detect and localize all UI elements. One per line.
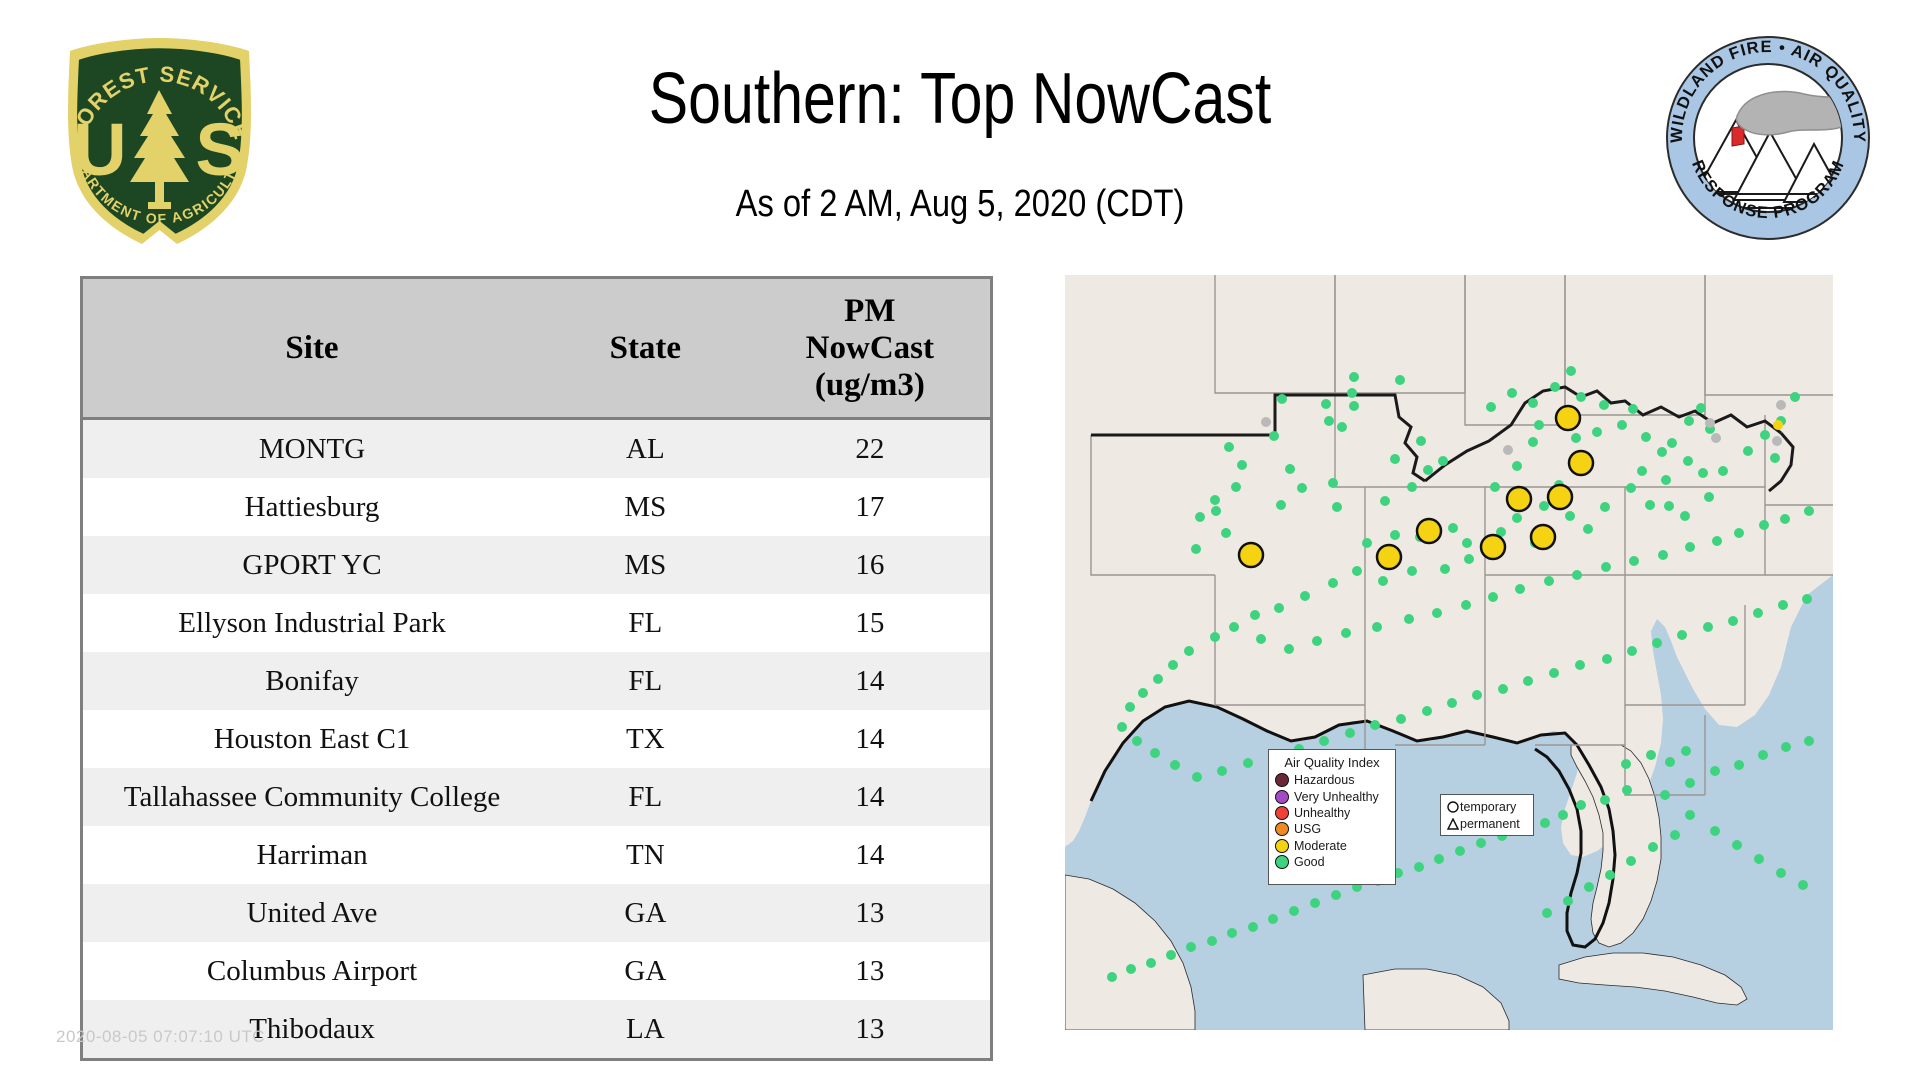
- monitor-point-good: [1370, 720, 1380, 730]
- monitor-point-good: [1297, 483, 1307, 493]
- legend-permanent-row: permanent: [1445, 815, 1529, 832]
- monitor-point-good: [1464, 554, 1474, 564]
- monitor-point-good: [1685, 542, 1695, 552]
- monitor-point-good: [1698, 468, 1708, 478]
- monitor-point-good: [1362, 538, 1372, 548]
- monitor-point-nodata: [1705, 418, 1715, 428]
- monitor-point-good: [1684, 416, 1694, 426]
- monitor-point-good: [1455, 846, 1465, 856]
- pm-header-line-1: PM: [754, 293, 986, 330]
- cell-site: Bonifay: [83, 652, 541, 710]
- monitor-point-good: [1268, 914, 1278, 924]
- monitor-point-good: [1566, 366, 1576, 376]
- monitor-point-good: [1390, 530, 1400, 540]
- monitor-point-good: [1277, 394, 1287, 404]
- cell-pm: 17: [750, 478, 990, 536]
- monitor-point-good: [1274, 603, 1284, 613]
- monitor-point-good: [1250, 610, 1260, 620]
- monitor-point-good: [1565, 511, 1575, 521]
- temporary-circle-icon: [1445, 801, 1460, 813]
- monitor-point-good: [1284, 644, 1294, 654]
- monitor-point-good: [1168, 660, 1178, 670]
- monitor-point-moderate: [1556, 406, 1580, 430]
- legend-swatch-icon: [1275, 806, 1289, 820]
- monitor-point-good: [1710, 826, 1720, 836]
- monitor-point-good: [1331, 890, 1341, 900]
- usda-forest-service-logo: FOREST SERVICE DEPARTMENT OF AGRICULTURE…: [52, 32, 267, 254]
- monitor-point-good: [1780, 514, 1790, 524]
- monitor-point-good: [1576, 800, 1586, 810]
- monitor-point-good: [1683, 456, 1693, 466]
- table-row[interactable]: Tallahassee Community CollegeFL14: [83, 768, 990, 826]
- nowcast-table-container: Site State PM NowCast (ug/m3) MONTGAL22H…: [80, 276, 993, 1061]
- table-row[interactable]: MONTGAL22: [83, 419, 990, 479]
- column-header-state[interactable]: State: [541, 279, 750, 419]
- cell-state: GA: [541, 884, 750, 942]
- monitor-point-good: [1583, 524, 1593, 534]
- monitor-point-good: [1685, 810, 1695, 820]
- legend-item-label: Very Unhealthy: [1294, 790, 1379, 804]
- monitor-point-nodata: [1776, 400, 1786, 410]
- monitor-point-good: [1211, 506, 1221, 516]
- monitor-point-good: [1332, 502, 1342, 512]
- monitor-point-good: [1600, 795, 1610, 805]
- monitor-point-good: [1170, 760, 1180, 770]
- monitor-point-good: [1667, 438, 1677, 448]
- monitor-point-good: [1753, 608, 1763, 618]
- cell-pm: 16: [750, 536, 990, 594]
- table-header-row: Site State PM NowCast (ug/m3): [83, 279, 990, 419]
- monitor-point-good: [1798, 880, 1808, 890]
- monitor-point-good: [1804, 506, 1814, 516]
- monitor-point-good: [1227, 928, 1237, 938]
- column-header-site[interactable]: Site: [83, 279, 541, 419]
- pm-header-line-3: (ug/m3): [754, 367, 986, 404]
- monitor-point-good: [1544, 576, 1554, 586]
- monitor-point-good: [1378, 576, 1388, 586]
- column-header-pm-nowcast[interactable]: PM NowCast (ug/m3): [750, 279, 990, 419]
- monitor-point-good: [1229, 622, 1239, 632]
- cell-site: Columbus Airport: [83, 942, 541, 1000]
- monitor-point-good: [1396, 714, 1406, 724]
- monitor-point-good: [1404, 614, 1414, 624]
- cell-pm: 13: [750, 1000, 990, 1058]
- monitor-point-good: [1486, 402, 1496, 412]
- cell-site: United Ave: [83, 884, 541, 942]
- monitor-point-good: [1658, 550, 1668, 560]
- monitor-point-good: [1571, 433, 1581, 443]
- monitor-point-good: [1125, 702, 1135, 712]
- monitor-point-good: [1507, 388, 1517, 398]
- legend-item-label: Unhealthy: [1294, 806, 1350, 820]
- cell-state: AL: [541, 419, 750, 479]
- monitor-point-good: [1542, 908, 1552, 918]
- monitor-point-good: [1423, 465, 1433, 475]
- monitor-point-good: [1664, 501, 1674, 511]
- letter-s: S: [195, 108, 244, 191]
- monitor-point-good: [1416, 436, 1426, 446]
- monitor-point-moderate: [1239, 543, 1263, 567]
- monitor-point-good: [1641, 432, 1651, 442]
- monitor-point-good: [1575, 660, 1585, 670]
- monitor-point-good: [1576, 392, 1586, 402]
- monitor-point-good: [1146, 958, 1156, 968]
- monitor-point-good: [1276, 500, 1286, 510]
- monitor-point-good: [1661, 475, 1671, 485]
- monitor-point-moderate: [1569, 451, 1593, 475]
- monitor-point-good: [1680, 511, 1690, 521]
- cell-state: FL: [541, 594, 750, 652]
- monitor-point-good: [1231, 482, 1241, 492]
- monitor-point-good: [1462, 538, 1472, 548]
- monitor-point-good: [1310, 898, 1320, 908]
- monitor-point-good: [1166, 950, 1176, 960]
- monitor-point-good: [1414, 862, 1424, 872]
- monitor-point-good: [1760, 430, 1770, 440]
- monitor-point-good: [1107, 972, 1117, 982]
- monitor-point-good: [1601, 562, 1611, 572]
- cell-state: GA: [541, 942, 750, 1000]
- wildland-fire-air-quality-logo: WILDLAND FIRE • AIR QUALITY RESPONSE PRO…: [1662, 32, 1874, 244]
- monitor-point-good: [1285, 464, 1295, 474]
- monitor-point-good: [1490, 482, 1500, 492]
- monitor-point-good: [1734, 760, 1744, 770]
- monitor-point-good: [1728, 616, 1738, 626]
- table-body: MONTGAL22HattiesburgMS17GPORT YCMS16Elly…: [83, 419, 990, 1059]
- monitor-point-nodata: [1261, 417, 1271, 427]
- monitor-point-good: [1321, 399, 1331, 409]
- monitor-point-nodata: [1503, 445, 1513, 455]
- legend-title: Air Quality Index: [1275, 755, 1389, 770]
- monitor-point-good: [1677, 630, 1687, 640]
- monitor-point-good: [1237, 460, 1247, 470]
- monitor-point-good: [1563, 896, 1573, 906]
- monitor-point-good: [1132, 736, 1142, 746]
- monitor-point-good: [1626, 856, 1636, 866]
- monitor-point-good: [1289, 906, 1299, 916]
- monitor-type-legend: temporary permanent: [1440, 794, 1534, 836]
- monitor-point-good: [1217, 766, 1227, 776]
- legend-item-label: USG: [1294, 822, 1321, 836]
- monitor-point-good: [1754, 854, 1764, 864]
- monitor-point-good: [1440, 564, 1450, 574]
- monitor-point-good: [1269, 431, 1279, 441]
- monitor-point-good: [1599, 400, 1609, 410]
- monitor-point-good: [1718, 466, 1728, 476]
- cell-site: Ellyson Industrial Park: [83, 594, 541, 652]
- monitor-point-good: [1153, 674, 1163, 684]
- monitor-point-good: [1528, 437, 1538, 447]
- monitor-point-good: [1758, 750, 1768, 760]
- monitor-point-good: [1512, 461, 1522, 471]
- legend-item-moderate: Moderate: [1275, 838, 1389, 854]
- monitor-point-good: [1347, 388, 1357, 398]
- monitor-point-good: [1488, 592, 1498, 602]
- cell-site: Hattiesburg: [83, 478, 541, 536]
- monitor-point-good: [1191, 544, 1201, 554]
- permanent-triangle-icon: [1445, 818, 1460, 830]
- monitor-point-good: [1447, 698, 1457, 708]
- monitor-point-good: [1790, 392, 1800, 402]
- monitor-point-good: [1626, 483, 1636, 493]
- monitor-point-moderate: [1531, 525, 1555, 549]
- legend-swatch-icon: [1275, 773, 1289, 787]
- monitor-point-good: [1523, 676, 1533, 686]
- monitor-point-good: [1461, 600, 1471, 610]
- monitor-point-good: [1210, 495, 1220, 505]
- monitor-point-good: [1372, 622, 1382, 632]
- monitor-point-good: [1407, 566, 1417, 576]
- monitor-point-good: [1622, 785, 1632, 795]
- monitor-point-good: [1432, 608, 1442, 618]
- monitor-point-good: [1243, 758, 1253, 768]
- cell-pm: 14: [750, 710, 990, 768]
- legend-item-label: Hazardous: [1294, 773, 1354, 787]
- monitor-point-good: [1781, 742, 1791, 752]
- monitor-point-good: [1627, 646, 1637, 656]
- monitor-point-good: [1670, 830, 1680, 840]
- monitor-point-good: [1407, 482, 1417, 492]
- monitor-point-good: [1646, 750, 1656, 760]
- cell-pm: 14: [750, 826, 990, 884]
- monitor-point-good: [1572, 570, 1582, 580]
- cell-state: TX: [541, 710, 750, 768]
- monitor-point-good: [1549, 668, 1559, 678]
- legend-permanent-label: permanent: [1460, 817, 1520, 831]
- monitor-point-good: [1476, 838, 1486, 848]
- table-row[interactable]: Columbus AirportGA13: [83, 942, 990, 1000]
- monitor-point-good: [1652, 638, 1662, 648]
- monitor-point-good: [1192, 772, 1202, 782]
- monitor-point-good: [1712, 536, 1722, 546]
- monitor-point-good: [1592, 427, 1602, 437]
- monitor-point-good: [1345, 728, 1355, 738]
- monitor-point-good: [1734, 528, 1744, 538]
- legend-swatch-icon: [1275, 855, 1289, 869]
- air-quality-index-legend: Air Quality Index HazardousVery Unhealth…: [1268, 749, 1396, 885]
- monitor-point-good: [1550, 382, 1560, 392]
- monitor-point-good: [1802, 594, 1812, 604]
- monitor-point-good: [1312, 636, 1322, 646]
- monitor-point-good: [1207, 936, 1217, 946]
- monitor-point-good: [1341, 628, 1351, 638]
- monitor-point-good: [1703, 622, 1713, 632]
- monitor-point-nodata: [1711, 433, 1721, 443]
- monitor-point-good: [1602, 654, 1612, 664]
- cell-pm: 14: [750, 768, 990, 826]
- cell-site: MONTG: [83, 419, 541, 479]
- monitor-point-good: [1710, 766, 1720, 776]
- table-row[interactable]: BonifayFL14: [83, 652, 990, 710]
- monitor-point-good: [1645, 500, 1655, 510]
- table-row[interactable]: GPORT YCMS16: [83, 536, 990, 594]
- monitor-point-good: [1434, 854, 1444, 864]
- legend-item-usg: USG: [1275, 821, 1389, 837]
- monitor-point-good: [1138, 688, 1148, 698]
- cell-state: FL: [541, 652, 750, 710]
- monitor-point-good: [1512, 513, 1522, 523]
- legend-temporary-row: temporary: [1445, 798, 1529, 815]
- monitor-point-moderate: [1548, 485, 1572, 509]
- cell-pm: 15: [750, 594, 990, 652]
- monitor-point-good: [1248, 922, 1258, 932]
- cell-site: Harriman: [83, 826, 541, 884]
- legend-swatch-icon: [1275, 790, 1289, 804]
- monitor-point-good: [1657, 447, 1667, 457]
- page-title: Southern: Top NowCast: [419, 60, 1501, 138]
- monitor-point-good: [1696, 403, 1706, 413]
- monitor-point-good: [1681, 746, 1691, 756]
- monitor-point-good: [1448, 523, 1458, 533]
- air-quality-monitor-map[interactable]: Air Quality Index HazardousVery Unhealth…: [1065, 275, 1833, 1030]
- cell-pm: 22: [750, 419, 990, 479]
- legend-item-very-unhealthy: Very Unhealthy: [1275, 788, 1389, 804]
- monitor-point-good: [1778, 600, 1788, 610]
- monitor-point-good: [1117, 722, 1127, 732]
- monitor-point-good: [1637, 466, 1647, 476]
- monitor-point-moderate: [1417, 519, 1441, 543]
- monitor-point-good: [1628, 404, 1638, 414]
- page-subtitle: As of 2 AM, Aug 5, 2020 (CDT): [392, 182, 1527, 226]
- monitor-point-good: [1438, 456, 1448, 466]
- monitor-point-good: [1539, 501, 1549, 511]
- monitor-point-good: [1558, 810, 1568, 820]
- monitor-point-good: [1665, 757, 1675, 767]
- monitor-point-good: [1256, 634, 1266, 644]
- legend-swatch-icon: [1275, 839, 1289, 853]
- monitor-point-good: [1685, 778, 1695, 788]
- monitor-point-good: [1584, 882, 1594, 892]
- table-row[interactable]: United AveGA13: [83, 884, 990, 942]
- monitor-point-good: [1352, 566, 1362, 576]
- monitor-point-good: [1328, 478, 1338, 488]
- monitor-point-good: [1759, 520, 1769, 530]
- cell-pm: 13: [750, 942, 990, 1000]
- monitor-point-moderate: [1773, 420, 1783, 430]
- cell-state: FL: [541, 768, 750, 826]
- monitor-point-good: [1660, 790, 1670, 800]
- monitor-point-good: [1704, 492, 1714, 502]
- legend-item-label: Good: [1294, 855, 1325, 869]
- monitor-point-good: [1528, 398, 1538, 408]
- cell-site: Tallahassee Community College: [83, 768, 541, 826]
- monitor-point-moderate: [1377, 545, 1401, 569]
- monitor-point-good: [1224, 442, 1234, 452]
- letter-u: U: [73, 108, 126, 191]
- monitor-point-good: [1184, 646, 1194, 656]
- cell-state: LA: [541, 1000, 750, 1058]
- monitor-point-good: [1319, 736, 1329, 746]
- monitor-point-moderate: [1507, 487, 1531, 511]
- monitor-point-good: [1337, 422, 1347, 432]
- legend-swatch-icon: [1275, 822, 1289, 836]
- monitor-point-good: [1395, 375, 1405, 385]
- monitor-point-good: [1743, 446, 1753, 456]
- table-row[interactable]: HattiesburgMS17: [83, 478, 990, 536]
- legend-item-unhealthy: Unhealthy: [1275, 805, 1389, 821]
- cell-state: TN: [541, 826, 750, 884]
- monitor-point-good: [1540, 818, 1550, 828]
- footer-timestamp-note: 2020-08-05 07:07:10 UTC: [56, 1027, 265, 1047]
- monitor-point-good: [1150, 748, 1160, 758]
- monitor-point-good: [1349, 401, 1359, 411]
- monitor-point-good: [1515, 584, 1525, 594]
- monitor-point-good: [1221, 528, 1231, 538]
- legend-item-hazardous: Hazardous: [1275, 772, 1389, 788]
- pm-header-line-2: NowCast: [754, 330, 986, 367]
- monitor-point-moderate: [1481, 535, 1505, 559]
- monitor-point-good: [1600, 502, 1610, 512]
- monitor-point-good: [1210, 632, 1220, 642]
- cell-state: MS: [541, 478, 750, 536]
- monitor-point-nodata: [1772, 436, 1782, 446]
- table-row[interactable]: HarrimanTN14: [83, 826, 990, 884]
- monitor-point-good: [1770, 453, 1780, 463]
- monitor-point-good: [1648, 842, 1658, 852]
- monitor-point-good: [1472, 690, 1482, 700]
- legend-temporary-label: temporary: [1460, 800, 1516, 814]
- monitor-point-good: [1617, 420, 1627, 430]
- monitor-point-good: [1498, 684, 1508, 694]
- table-row[interactable]: Houston East C1TX14: [83, 710, 990, 768]
- monitor-point-good: [1390, 454, 1400, 464]
- monitor-point-good: [1328, 578, 1338, 588]
- legend-item-good: Good: [1275, 854, 1389, 870]
- monitor-point-good: [1621, 759, 1631, 769]
- cell-site: Houston East C1: [83, 710, 541, 768]
- monitor-point-good: [1349, 372, 1359, 382]
- monitor-point-good: [1422, 706, 1432, 716]
- cell-pm: 14: [750, 652, 990, 710]
- monitor-point-good: [1186, 942, 1196, 952]
- monitor-point-good: [1300, 591, 1310, 601]
- monitor-point-good: [1534, 420, 1544, 430]
- monitor-point-good: [1605, 870, 1615, 880]
- monitor-point-good: [1324, 416, 1334, 426]
- legend-item-label: Moderate: [1294, 839, 1347, 853]
- monitor-point-good: [1776, 868, 1786, 878]
- monitor-point-good: [1380, 496, 1390, 506]
- nowcast-table: Site State PM NowCast (ug/m3) MONTGAL22H…: [83, 279, 990, 1058]
- monitor-point-good: [1732, 840, 1742, 850]
- cell-pm: 13: [750, 884, 990, 942]
- monitor-point-good: [1195, 512, 1205, 522]
- cell-state: MS: [541, 536, 750, 594]
- monitor-point-good: [1804, 736, 1814, 746]
- monitor-point-good: [1126, 964, 1136, 974]
- monitor-point-good: [1629, 556, 1639, 566]
- cell-site: GPORT YC: [83, 536, 541, 594]
- table-row[interactable]: Ellyson Industrial ParkFL15: [83, 594, 990, 652]
